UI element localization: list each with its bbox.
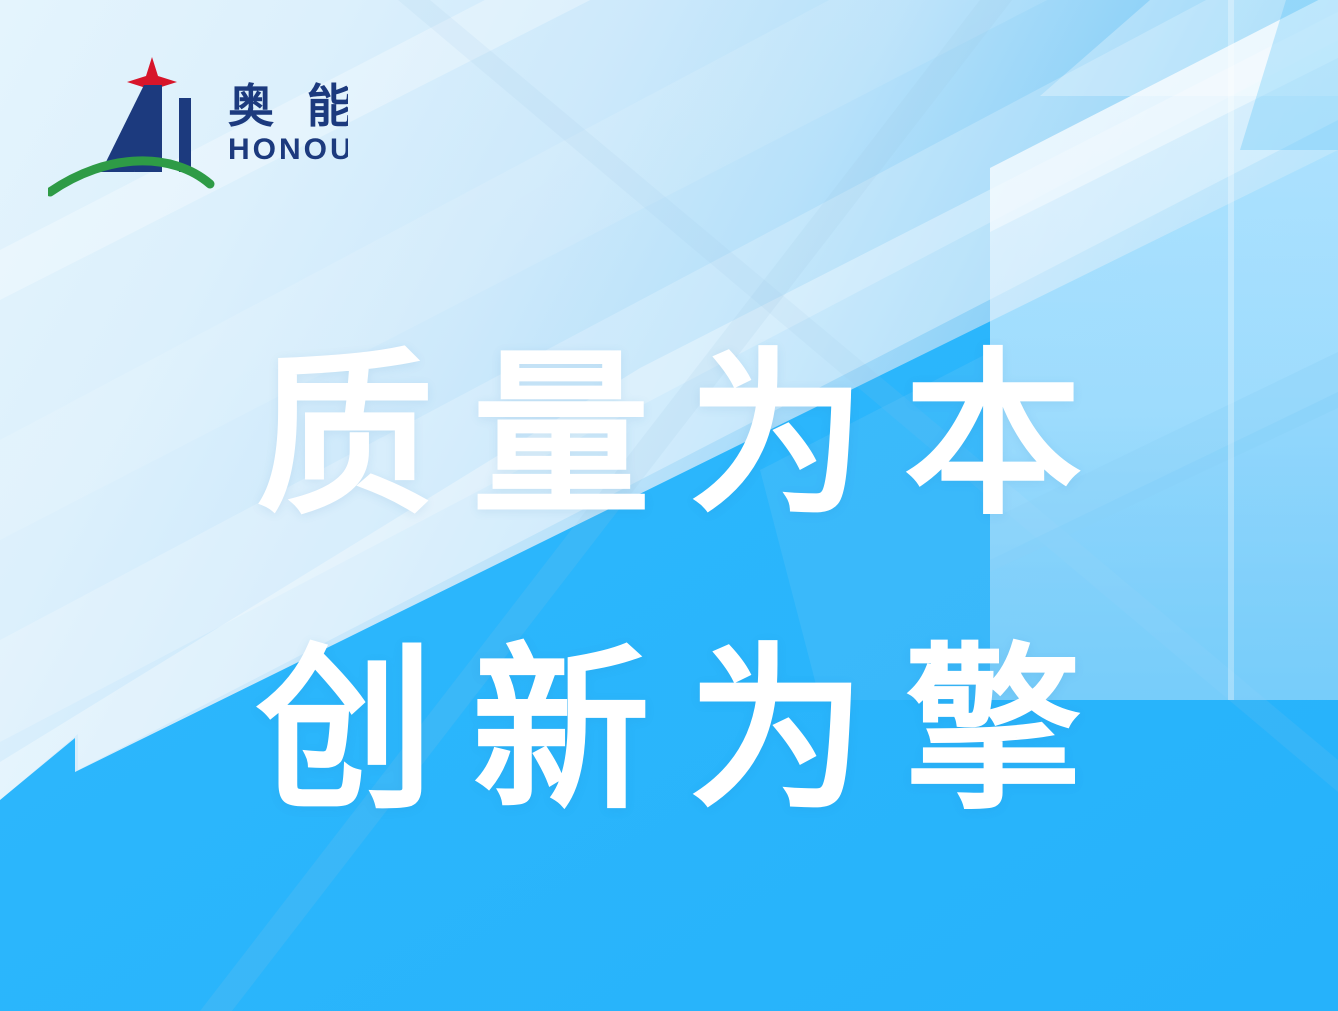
- headline-line-1: 质量为本: [0, 318, 1338, 555]
- logo-latin-name: HONOUR: [228, 133, 348, 166]
- a-mark-bar: [179, 98, 191, 172]
- company-logo: 奥 能 HONOUR: [48, 52, 348, 202]
- poster-canvas: 奥 能 HONOUR 质量为本 创新为擎: [0, 0, 1338, 1011]
- green-arc: [50, 161, 210, 192]
- headline-block: 质量为本 创新为擎: [0, 318, 1338, 849]
- logo-artwork: 奥 能 HONOUR: [48, 52, 348, 202]
- logo-chinese-name: 奥 能: [228, 80, 348, 132]
- headline-line-2: 创新为擎: [0, 613, 1338, 850]
